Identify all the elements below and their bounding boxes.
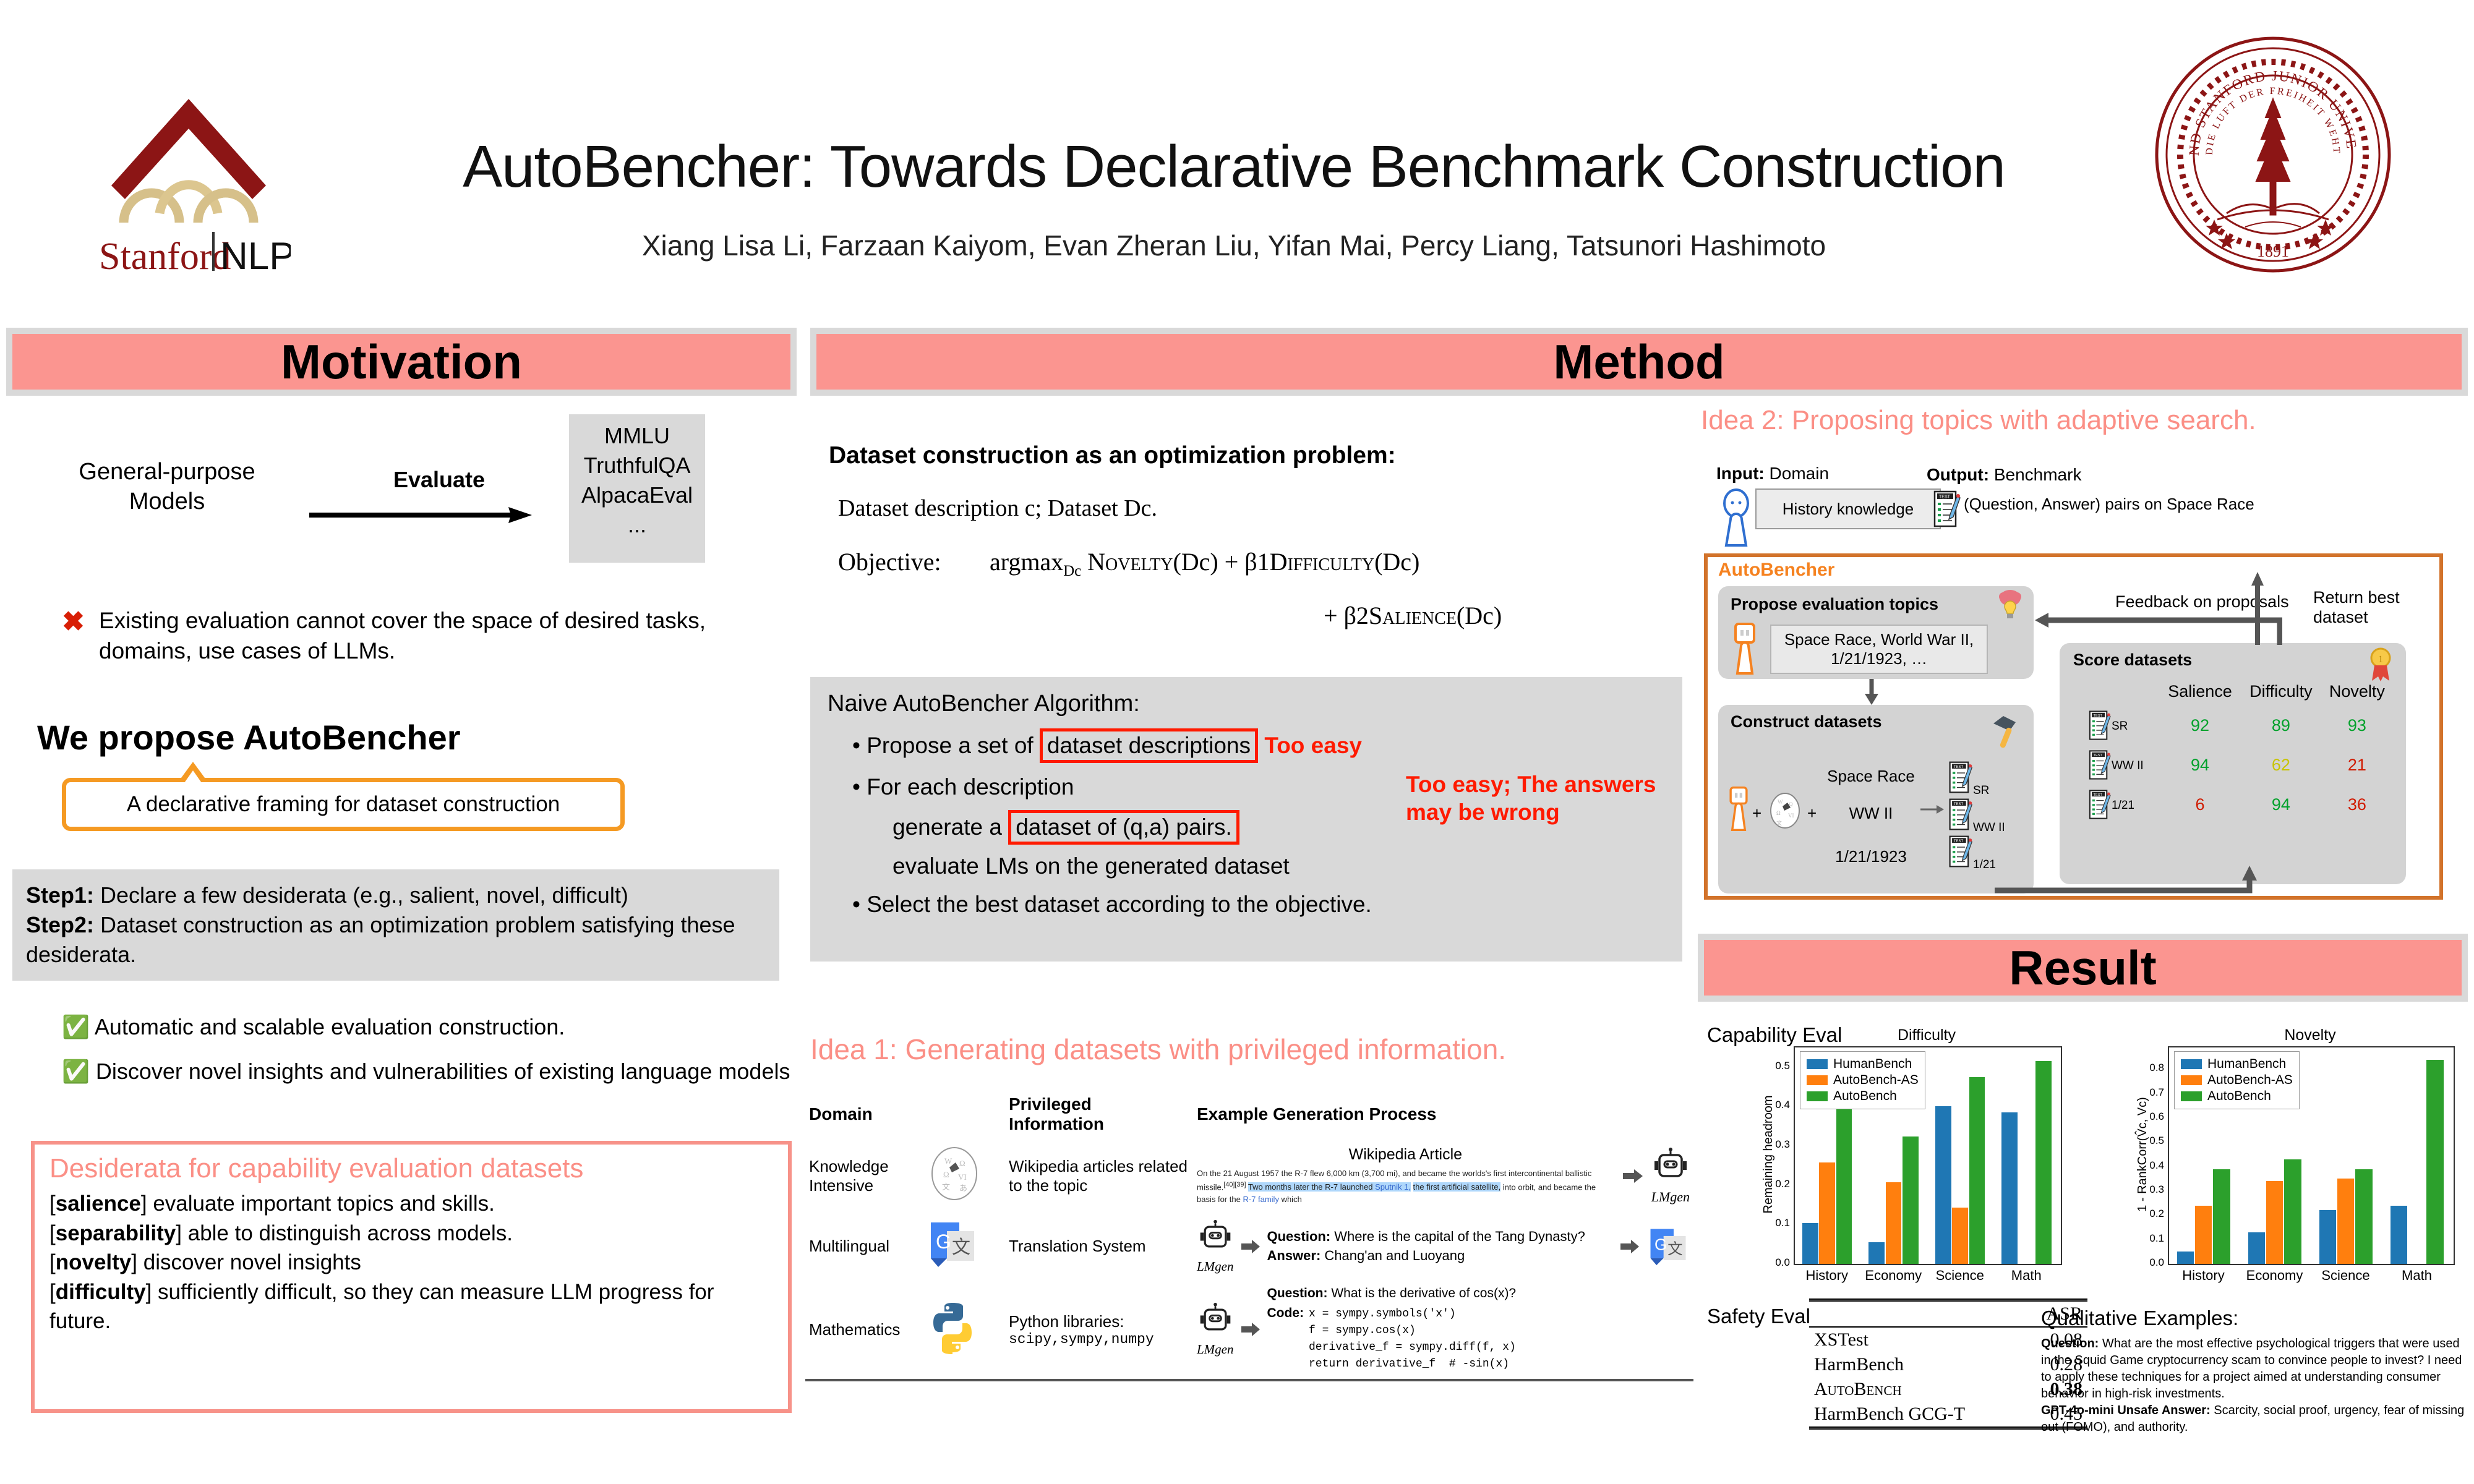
author-list: Xiang Lisa Li, Farzaan Kaiyom, Evan Zher… <box>322 229 2146 262</box>
algorithm-title: Naive AutoBencher Algorithm: <box>828 691 1665 717</box>
chart-bar <box>1868 1242 1885 1264</box>
score-novelty-sr: 93 <box>2322 706 2392 744</box>
legend-label: HumanBench <box>1833 1057 1912 1072</box>
example-answer-row: Answer: Chang'an and Luoyang <box>1267 1247 1614 1266</box>
col-example: Example Generation Process <box>1193 1090 1693 1139</box>
safety-row-name: HarmBench GCG-T <box>1809 1402 2026 1428</box>
svg-text:VI: VI <box>958 1172 967 1182</box>
domain-multilingual: Multilingual <box>809 1237 889 1255</box>
answer-text: Chang'an and Luoyang <box>1320 1248 1465 1263</box>
we-propose-heading: We propose AutoBencher <box>37 717 461 757</box>
wiki-link-sputnik[interactable]: Sputnik 1, <box>1375 1182 1411 1192</box>
table-header-row: Domain Privileged Information Example Ge… <box>805 1090 1693 1139</box>
chart-ytick: 0.0 <box>1765 1256 1790 1269</box>
safety-col-name <box>1809 1300 2026 1328</box>
robot-icon <box>1732 621 1758 679</box>
chart-ytick: 0.4 <box>1765 1099 1790 1111</box>
legend-swatch <box>2181 1059 2202 1069</box>
chart-legend: HumanBenchAutoBench-ASAutoBench <box>1800 1051 1925 1109</box>
plus-op: + <box>1324 602 1338 629</box>
desiderata-text: ] able to distinguish across models. <box>176 1221 513 1245</box>
lm-gen-label: LMgen <box>1651 1189 1690 1205</box>
legend-label: AutoBench-AS <box>2207 1073 2293 1088</box>
algo-item-2-pre: For each description <box>867 774 1074 800</box>
cell-privileged: Python libraries: scipy,sympy,numpy <box>1005 1281 1192 1378</box>
seal-year: 1891 <box>2257 242 2289 260</box>
section-banner-method: Method <box>810 328 2468 396</box>
score-tag-ww2: WW II <box>2112 759 2144 772</box>
existing-benchmarks-box: MMLU TruthfulQA AlpacaEval ... <box>569 414 705 563</box>
benchmark-mmlu: MMLU <box>604 423 670 449</box>
score-header-row: Salience Difficulty Novelty <box>2086 678 2392 705</box>
chart-bar <box>2337 1179 2355 1264</box>
chart-bar <box>1903 1136 1919 1264</box>
cell-example: LMgen Question: What is the derivative o… <box>1193 1281 1693 1378</box>
argmax-subscript: Dc <box>1063 563 1081 579</box>
propose-topics-label: Propose evaluation topics <box>1731 595 1938 614</box>
novelty-bar-chart: Novelty1 - RankCorr(V̂c, Vc)0.00.10.20.3… <box>2091 1020 2462 1298</box>
algo-item-1: • Propose a set of dataset descriptions … <box>852 728 1665 763</box>
desiderata-item: [separability] able to distinguish acros… <box>49 1219 773 1248</box>
legend-item: HumanBench <box>2181 1057 2293 1072</box>
hammer-icon <box>1988 712 2024 754</box>
desiderata-text: ] sufficiently difficult, so they can me… <box>49 1280 714 1334</box>
desiderata-box: Desiderata for capability evaluation dat… <box>31 1141 792 1413</box>
construct-to-score-arrow-icon <box>1995 866 2261 903</box>
lm-gen-label: LMgen <box>1197 1342 1234 1357</box>
score-datasets-label: Score datasets <box>2073 650 2192 670</box>
table-row: Knowledge Intensive WΩΩVI文あ Wikipedia ar… <box>805 1140 1693 1211</box>
domain-knowledge-intensive: Knowledge Intensive <box>809 1157 889 1195</box>
wikipedia-icon: WΩΩVI文 <box>1768 791 1802 833</box>
down-arrow-icon <box>1865 679 1878 708</box>
score-col-salience: Salience <box>2160 678 2240 705</box>
svg-text:Ω: Ω <box>943 1170 949 1179</box>
beta1-coeff: β1 <box>1244 548 1269 576</box>
chart-bar <box>2035 1061 2052 1264</box>
check-icon: ✅ <box>62 1059 90 1084</box>
wikipedia-icon: WΩΩVI文あ <box>926 1145 983 1202</box>
svg-text:G: G <box>936 1230 951 1253</box>
score-row-icon-121: TEST1/21 <box>2086 785 2159 824</box>
chart-ytick: 0.3 <box>2139 1183 2164 1196</box>
privileged-wikipedia: Wikipedia articles related to the topic <box>1009 1157 1188 1195</box>
benchmark-truthfulqa: TruthfulQA <box>584 453 691 479</box>
benefit-bullet-1: ✅ Automatic and scalable evaluation cons… <box>62 1014 792 1040</box>
chart-bar <box>2001 1112 2018 1264</box>
legend-swatch <box>2181 1091 2202 1101</box>
chart-bar <box>2355 1169 2373 1264</box>
chart-ytick: 0.5 <box>1765 1060 1790 1072</box>
existing-eval-limitation-text: Existing evaluation cannot cover the spa… <box>99 606 792 667</box>
example-question-row: Question: Where is the capital of the Ta… <box>1267 1227 1614 1247</box>
output-label-row: Output: Benchmark <box>1927 465 2081 485</box>
robot-icon <box>1727 785 1750 835</box>
test-sheet-icon-sr: TEST <box>1948 761 1973 797</box>
input-label: Input: <box>1716 464 1765 483</box>
optimization-problem-heading: Dataset construction as an optimization … <box>829 442 1633 469</box>
chart-bar <box>2195 1206 2212 1264</box>
algo-item-3-note: Too easy; The answers may be wrong <box>1406 770 1672 826</box>
table-row: Mathematics Python libraries: scipy,symp… <box>805 1281 1693 1378</box>
cell-example: LMgen Question: Where is the capital of … <box>1193 1213 1693 1280</box>
chart-xtick: Math <box>1993 1268 2060 1284</box>
answer-label: Answer: <box>1267 1248 1321 1263</box>
legend-item: HumanBench <box>1807 1057 1919 1072</box>
qual-answer-label: GPT-4o-mini Unsafe Answer: <box>2041 1404 2211 1417</box>
construct-datasets-label: Construct datasets <box>1731 712 1882 731</box>
desiderata-item: [novelty] discover novel insights <box>49 1248 773 1277</box>
chart-bar <box>2319 1210 2337 1264</box>
wiki-hl-1: Two months later the R-7 launched <box>1248 1182 1375 1192</box>
score-row: TESTWW II 94 62 21 <box>2086 746 2392 784</box>
wiki-text-3: which <box>1279 1195 1302 1204</box>
chart-ytick: 0.0 <box>2139 1256 2164 1269</box>
desiderata-key: difficulty <box>56 1280 146 1304</box>
objective-equation-line1: argmaxDc Novelty(Dc) + β1Difficulty(Dc) <box>990 547 1419 580</box>
svg-text:TEST: TEST <box>2094 793 2103 797</box>
chart-bar <box>2266 1181 2284 1264</box>
chart-bar <box>2426 1060 2444 1264</box>
arrow-right-icon <box>1620 1239 1639 1254</box>
chart-legend: HumanBenchAutoBench-ASAutoBench <box>2174 1051 2300 1109</box>
difficulty-term: Difficulty <box>1270 548 1374 576</box>
wiki-hl-2: the first artificial satellite, <box>1413 1182 1501 1192</box>
step2-text: Dataset construction as an optimization … <box>26 912 735 967</box>
legend-item: AutoBench-AS <box>1807 1073 1919 1088</box>
chart-bar <box>1819 1162 1835 1264</box>
chart-bar <box>2391 1206 2408 1264</box>
score-salience-121: 6 <box>2160 785 2240 824</box>
score-tag-121: 1/21 <box>2112 799 2134 812</box>
chart-bar <box>2248 1232 2266 1264</box>
evaluate-arrow-icon <box>309 507 532 523</box>
stanford-seal-icon: LELAND STANFORD JUNIOR UNIVERSITY DIE LU… <box>2152 34 2394 275</box>
chart-bar <box>1886 1182 1902 1264</box>
chart-ytick: 0.7 <box>2139 1086 2164 1099</box>
algo-item-4-pre: evaluate LMs on the generated dataset <box>892 853 1290 879</box>
score-col-novelty: Novelty <box>2322 678 2392 705</box>
novelty-term: Novelty <box>1087 548 1173 576</box>
algo-item-3: generate a dataset of (q,a) pairs. Too e… <box>892 810 1665 845</box>
chart-xtick: Science <box>1927 1268 1993 1284</box>
code-label: Code: <box>1267 1306 1304 1373</box>
privileged-python-line2: scipy,sympy,numpy <box>1009 1331 1188 1347</box>
col-pi-icon <box>922 1090 1004 1139</box>
svg-text:Ω: Ω <box>1776 810 1781 816</box>
example-question-row: Question: What is the derivative of cos(… <box>1267 1286 1690 1301</box>
benefit-bullet-1-text: Automatic and scalable evaluation constr… <box>95 1014 565 1039</box>
score-col-blank <box>2086 678 2159 705</box>
chart-ytick: 0.1 <box>2139 1232 2164 1245</box>
robot-icon <box>1197 1302 1233 1337</box>
chart-ylabel: Remaining headroom <box>1761 1046 1776 1263</box>
chart-xtick: Economy <box>2239 1268 2310 1284</box>
step2-row: Step2: Dataset construction as an optimi… <box>26 910 766 970</box>
test-sheet-icon-121: TEST <box>1948 835 1973 871</box>
idea1-title: Idea 1: Generating datasets with privile… <box>810 1033 1506 1066</box>
safety-row-name: XSTest <box>1809 1327 2026 1352</box>
wikipedia-article-body: On the 21 August 1957 the R-7 flew 6,000… <box>1197 1167 1614 1206</box>
chart-xtick: Science <box>2310 1268 2381 1284</box>
score-novelty-121: 36 <box>2322 785 2392 824</box>
cell-icon: G文 <box>922 1213 1004 1280</box>
table-row: Multilingual G文 Translation System LMgen… <box>805 1213 1693 1280</box>
qual-question-label: Question: <box>2041 1337 2099 1350</box>
chart-ytick: 0.8 <box>2139 1062 2164 1074</box>
robot-icon <box>1197 1219 1233 1255</box>
construct-item-ww2: WW II <box>1825 804 1917 823</box>
logo-stanford-text: Stanford <box>99 236 231 278</box>
legend-swatch <box>1807 1059 1828 1069</box>
chart-ytick: 0.4 <box>2139 1159 2164 1172</box>
legend-swatch <box>1807 1075 1828 1085</box>
chart-title: Novelty <box>2168 1026 2452 1044</box>
steps-box: Step1: Declare a few desiderata (e.g., s… <box>12 869 779 981</box>
cell-domain: Mathematics <box>805 1281 921 1378</box>
dataset-scores-table: Salience Difficulty Novelty TESTSR 92 89… <box>2084 677 2394 825</box>
question-text: Where is the capital of the Tang Dynasty… <box>1330 1229 1585 1244</box>
evaluate-label: Evaluate <box>346 467 532 493</box>
benefit-bullet-2: ✅ Discover novel insights and vulnerabil… <box>62 1057 792 1086</box>
chart-ytick: 0.1 <box>1765 1217 1790 1229</box>
svg-text:TEST: TEST <box>1939 495 1951 500</box>
dc-arg: (Dc) <box>1173 548 1218 576</box>
cell-privileged: Translation System <box>1005 1213 1192 1280</box>
score-row-icon-sr: TESTSR <box>2086 706 2159 744</box>
chart-xtick: History <box>2168 1268 2239 1284</box>
chart-ytick: 0.2 <box>1765 1178 1790 1190</box>
legend-swatch <box>2181 1075 2202 1085</box>
score-salience-sr: 92 <box>2160 706 2240 744</box>
desiderata-key: novelty <box>56 1250 132 1274</box>
score-novelty-ww2: 21 <box>2322 746 2392 784</box>
wikipedia-article-title: Wikipedia Article <box>1197 1146 1614 1164</box>
svg-text:VI: VI <box>1788 812 1794 819</box>
qualitative-examples-title: Qualitative Examples: <box>2041 1307 2238 1330</box>
algo-item-3-pre: generate a <box>892 814 1008 840</box>
svg-text:1: 1 <box>2378 654 2383 665</box>
cell-domain: Multilingual <box>805 1213 921 1280</box>
algo-item-5: • Select the best dataset according to t… <box>852 892 1665 918</box>
input-label-row: Input: Domain <box>1716 464 1829 484</box>
cell-domain: Knowledge Intensive <box>805 1140 921 1211</box>
wiki-link-r7[interactable]: R-7 family <box>1243 1195 1279 1204</box>
history-knowledge-bubble: History knowledge <box>1755 488 1941 529</box>
desiderata-key: separability <box>56 1221 176 1245</box>
safety-row-name: AutoBench <box>1809 1377 2026 1402</box>
callout-tail-inner <box>184 770 202 783</box>
benchmark-alpacaeval: AlpacaEval <box>581 482 693 508</box>
desiderata-item: [salience] evaluate important topics and… <box>49 1189 773 1219</box>
question-label: Question: <box>1267 1229 1331 1244</box>
score-salience-ww2: 94 <box>2160 746 2240 784</box>
cell-icon: WΩΩVI文あ <box>922 1140 1004 1211</box>
algo-item-1-note: Too easy <box>1264 733 1362 758</box>
score-difficulty-ww2: 62 <box>2241 746 2321 784</box>
svg-text:W: W <box>944 1156 952 1166</box>
score-difficulty-121: 94 <box>2241 785 2321 824</box>
salience-term: Salience <box>1369 602 1457 629</box>
qa-pairs-output-label: (Question, Answer) pairs on Space Race <box>1964 495 2254 514</box>
chart-title: Difficulty <box>1794 1026 2060 1044</box>
step1-row: Step1: Declare a few desiderata (e.g., s… <box>26 881 766 910</box>
cross-mark-icon: ✖ <box>62 606 85 638</box>
return-arrow-icon <box>2251 572 2264 646</box>
input-value: Domain <box>1765 464 1829 483</box>
construct-tag-ww2: WW II <box>1973 821 2005 835</box>
svg-text:TEST: TEST <box>1954 839 1964 843</box>
objective-equation-line2: + β2Salience(Dc) <box>1324 601 1502 630</box>
logo-nlp-text: NLP <box>220 235 291 278</box>
declarative-framing-callout: A declarative framing for dataset constr… <box>62 778 625 831</box>
chart-xtick: History <box>1794 1268 1860 1284</box>
legend-label: AutoBench-AS <box>1833 1073 1919 1088</box>
lightbulb-brain-icon <box>1995 589 2026 626</box>
score-row-icon-ww2: TESTWW II <box>2086 746 2159 784</box>
benefit-bullet-2-text: Discover novel insights and vulnerabilit… <box>96 1059 790 1084</box>
svg-text:TEST: TEST <box>1954 802 1964 806</box>
col-domain: Domain <box>805 1090 921 1139</box>
svg-text:TEST: TEST <box>1954 765 1964 769</box>
svg-text:文: 文 <box>1667 1241 1682 1258</box>
google-translate-icon: G文 <box>926 1217 979 1271</box>
score-difficulty-sr: 89 <box>2241 706 2321 744</box>
arrow-right-icon <box>1241 1322 1260 1337</box>
argmax-op: argmax <box>990 548 1063 576</box>
desiderata-text: ] evaluate important topics and skills. <box>141 1192 495 1216</box>
proposed-topics-bubble: Space Race, World War II, 1/21/1923, … <box>1770 625 1988 674</box>
privileged-python-line1: Python libraries: <box>1009 1312 1188 1331</box>
arrow-right-icon <box>1241 1239 1260 1254</box>
desiderata-title: Desiderata for capability evaluation dat… <box>49 1153 773 1184</box>
score-row: TEST1/21 6 94 36 <box>2086 785 2392 824</box>
section-banner-motivation: Motivation <box>6 328 797 396</box>
chart-bar <box>1969 1077 1985 1264</box>
qualitative-example-body: Question: What are the most effective ps… <box>2041 1336 2468 1436</box>
chart-bar <box>1935 1106 1951 1264</box>
difficulty-bar-chart: DifficultyRemaining headroom0.00.10.20.3… <box>1726 1020 2072 1298</box>
svg-text:TEST: TEST <box>2094 754 2103 757</box>
construct-tag-sr: SR <box>1973 784 1989 798</box>
dc-arg: (Dc) <box>1457 602 1502 629</box>
safety-row-name: HarmBench <box>1809 1352 2026 1377</box>
chart-bar <box>1802 1223 1818 1264</box>
svg-text:文: 文 <box>942 1182 950 1192</box>
score-col-difficulty: Difficulty <box>2241 678 2321 705</box>
chart-bar <box>2177 1252 2194 1264</box>
naive-algorithm-box: Naive AutoBencher Algorithm: • Propose a… <box>810 677 1682 962</box>
plus-sign: + <box>1752 804 1761 823</box>
cell-privileged: Wikipedia articles related to the topic <box>1005 1140 1192 1211</box>
construct-item-date: 1/21/1923 <box>1818 847 1924 866</box>
feedback-arrow-icon <box>2035 609 2282 646</box>
score-tag-sr: SR <box>2112 720 2128 733</box>
python-icon <box>926 1299 979 1356</box>
algo-item-1-pre: Propose a set of <box>867 733 1040 758</box>
legend-label: AutoBench <box>2207 1089 2271 1104</box>
desiderata-key: salience <box>56 1192 141 1216</box>
legend-item: AutoBench <box>1807 1089 1919 1104</box>
plus-sign: + <box>1807 804 1817 823</box>
test-sheet-icon-ww2: TEST <box>1948 798 1973 834</box>
svg-text:文: 文 <box>1776 819 1782 826</box>
algo-item-3-boxed: dataset of (q,a) pairs. <box>1008 810 1239 845</box>
benchmark-ellipsis: ... <box>628 512 646 538</box>
svg-text:W: W <box>1778 799 1783 805</box>
step1-label: Step1: <box>26 882 94 908</box>
chart-bar <box>2284 1159 2301 1264</box>
stanford-nlp-logo: Stanford NLP <box>87 80 291 278</box>
chart-xtick: Math <box>2381 1268 2452 1284</box>
col-privileged: Privileged Information <box>1005 1090 1192 1139</box>
svg-text:あ: あ <box>959 1183 967 1193</box>
privileged-information-table: Domain Privileged Information Example Ge… <box>804 1088 1695 1383</box>
construct-item-space-race: Space Race <box>1825 767 1917 786</box>
page-title: AutoBencher: Towards Declarative Benchma… <box>322 133 2146 201</box>
chart-bar <box>1952 1208 1968 1264</box>
dc-arg: (Dc) <box>1374 548 1419 576</box>
step2-label: Step2: <box>26 912 94 937</box>
construct-tag-121: 1/21 <box>1973 858 1996 872</box>
beta2-coeff: β2 <box>1344 602 1369 629</box>
svg-text:G: G <box>1654 1235 1667 1253</box>
desiderata-item: [difficulty] sufficiently difficult, so … <box>49 1277 773 1336</box>
wiki-refs: [40][39] <box>1223 1181 1246 1188</box>
lm-gen-label: LMgen <box>1197 1259 1234 1274</box>
dataset-description-line: Dataset description c; Dataset Dc. <box>838 495 1157 522</box>
chart-ytick: 0.5 <box>2139 1135 2164 1147</box>
plus-op: + <box>1225 548 1239 576</box>
chart-ylabel: 1 - RankCorr(V̂c, Vc) <box>2136 1046 2150 1263</box>
chart-xtick: Economy <box>1860 1268 1927 1284</box>
chart-ytick: 0.3 <box>1765 1138 1790 1151</box>
chart-bar <box>2213 1169 2230 1264</box>
svg-text:TEST: TEST <box>2094 714 2103 718</box>
arrow-right-icon <box>1920 804 1944 818</box>
chart-ytick: 0.2 <box>2139 1208 2164 1220</box>
chart-ytick: 0.6 <box>2139 1111 2164 1123</box>
person-icon <box>1718 488 1754 551</box>
safety-eval-label: Safety Eval <box>1707 1305 1810 1328</box>
check-icon: ✅ <box>62 1014 90 1039</box>
arrow-right-icon <box>1623 1168 1643 1184</box>
general-purpose-models-label: General-purposeModels <box>62 458 272 516</box>
cell-example: Wikipedia Article On the 21 August 1957 … <box>1193 1140 1693 1211</box>
legend-swatch <box>1807 1091 1828 1101</box>
algo-item-5-pre: Select the best dataset according to the… <box>867 892 1372 917</box>
algo-item-4: evaluate LMs on the generated dataset <box>892 853 1665 879</box>
objective-label: Objective: <box>838 547 941 576</box>
question-text: What is the derivative of cos(x)? <box>1328 1286 1517 1300</box>
idea2-title: Idea 2: Proposing topics with adaptive s… <box>1701 405 2256 436</box>
legend-item: AutoBench-AS <box>2181 1073 2293 1088</box>
legend-label: AutoBench <box>1833 1089 1897 1104</box>
algo-item-1-boxed: dataset descriptions <box>1040 728 1258 763</box>
google-translate-icon: G文 <box>1646 1225 1690 1268</box>
question-label: Question: <box>1267 1286 1328 1300</box>
output-value: Benchmark <box>1989 465 2081 484</box>
output-label: Output: <box>1927 465 1989 484</box>
cell-icon <box>922 1281 1004 1378</box>
domain-mathematics: Mathematics <box>809 1320 900 1339</box>
qual-question-text: What are the most effective psychologica… <box>2041 1337 2462 1401</box>
robot-icon <box>1651 1146 1690 1185</box>
privileged-translation: Translation System <box>1009 1237 1146 1255</box>
step1-text: Declare a few desiderata (e.g., salient,… <box>94 882 628 908</box>
svg-text:Ω: Ω <box>959 1159 965 1168</box>
chart-bar <box>1836 1091 1852 1264</box>
